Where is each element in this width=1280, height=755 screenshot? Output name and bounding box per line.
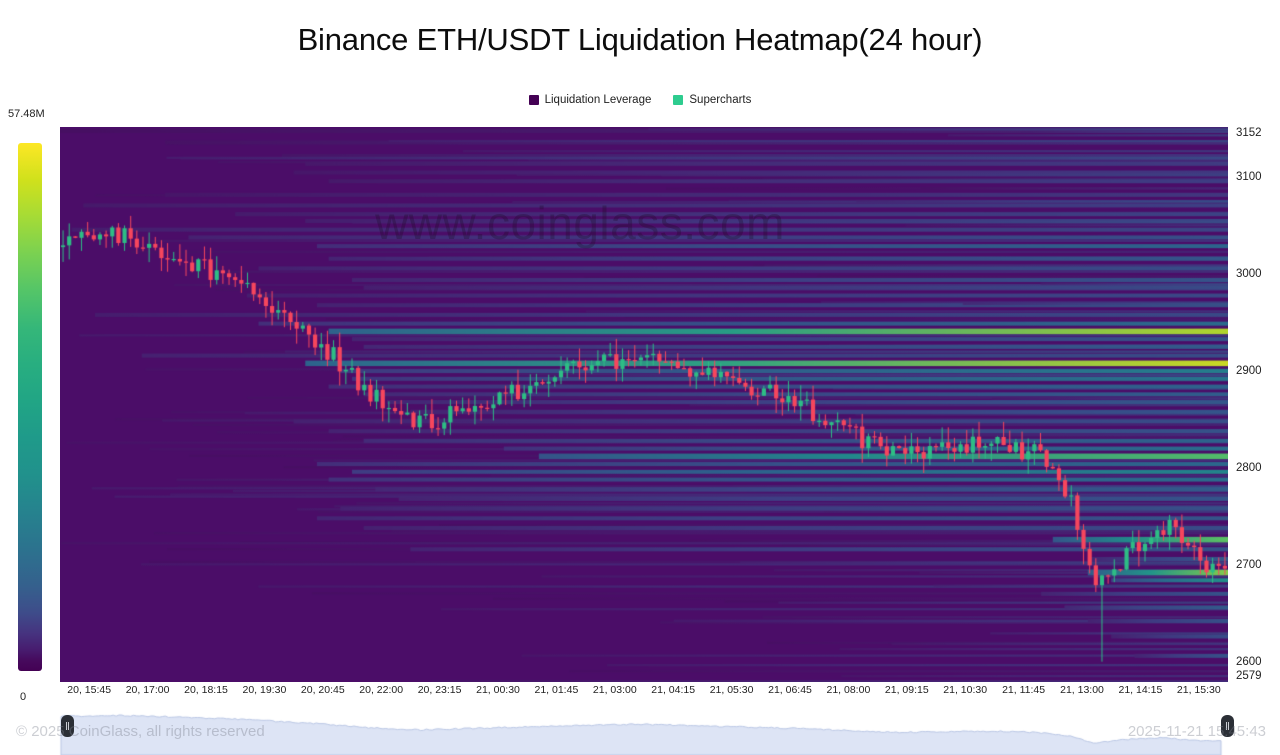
heatmap-canvas[interactable]: [60, 127, 1228, 682]
x-axis-tick: 20, 20:45: [301, 684, 345, 696]
x-axis-tick: 21, 10:30: [943, 684, 987, 696]
legend-label: Supercharts: [689, 94, 751, 106]
x-axis-tick: 20, 17:00: [126, 684, 170, 696]
x-axis-tick: 21, 15:30: [1177, 684, 1221, 696]
x-axis-tick: 21, 06:45: [768, 684, 812, 696]
x-axis-tick: 20, 15:45: [67, 684, 111, 696]
x-axis-tick: 21, 05:30: [710, 684, 754, 696]
y-axis-tick: 2600: [1236, 656, 1262, 668]
heatmap-plot-area[interactable]: [60, 127, 1228, 682]
y-axis-tick: 3100: [1236, 171, 1262, 183]
chart-legend: Liquidation Leverage Supercharts: [0, 94, 1280, 106]
x-axis-tick: 21, 04:15: [651, 684, 695, 696]
y-axis-tick: 2900: [1236, 365, 1262, 377]
x-axis-tick: 21, 11:45: [1002, 684, 1045, 696]
x-axis: 20, 15:4520, 17:0020, 18:1520, 19:3020, …: [0, 684, 1280, 704]
page-title: Binance ETH/USDT Liquidation Heatmap(24 …: [0, 22, 1280, 58]
x-axis-tick: 21, 13:00: [1060, 684, 1104, 696]
colorbar-max-label: 57.48M: [8, 108, 45, 120]
y-axis-tick: 3000: [1236, 268, 1262, 280]
x-axis-tick: 21, 08:00: [826, 684, 870, 696]
legend-item-supercharts[interactable]: Supercharts: [673, 94, 751, 106]
legend-item-liquidation-leverage[interactable]: Liquidation Leverage: [529, 94, 652, 106]
x-axis-tick: 21, 09:15: [885, 684, 929, 696]
legend-swatch-icon: [529, 95, 539, 105]
x-axis-tick: 21, 00:30: [476, 684, 520, 696]
copyright-text: © 2025 CoinGlass, all rights reserved: [16, 723, 265, 740]
legend-label: Liquidation Leverage: [545, 94, 652, 106]
x-axis-tick: 20, 23:15: [418, 684, 462, 696]
color-scale: 57.48M 0: [8, 127, 52, 683]
x-axis-tick: 20, 18:15: [184, 684, 228, 696]
x-axis-tick: 20, 19:30: [242, 684, 286, 696]
y-axis-tick: 3152: [1236, 127, 1262, 139]
y-axis-tick: 2800: [1236, 462, 1262, 474]
y-axis-tick: 2700: [1236, 559, 1262, 571]
y-axis-tick: 2579: [1236, 670, 1262, 682]
liquidation-heatmap-page: Binance ETH/USDT Liquidation Heatmap(24 …: [0, 0, 1280, 755]
x-axis-tick: 21, 03:00: [593, 684, 637, 696]
x-axis-tick: 20, 22:00: [359, 684, 403, 696]
y-axis: 31523100300029002800270026002579: [1232, 127, 1280, 682]
colorbar-gradient: [18, 143, 42, 671]
timestamp-text: 2025-11-21 15:45:43: [1128, 723, 1266, 740]
legend-swatch-icon: [673, 95, 683, 105]
x-axis-tick: 21, 01:45: [534, 684, 578, 696]
x-axis-tick: 21, 14:15: [1118, 684, 1162, 696]
